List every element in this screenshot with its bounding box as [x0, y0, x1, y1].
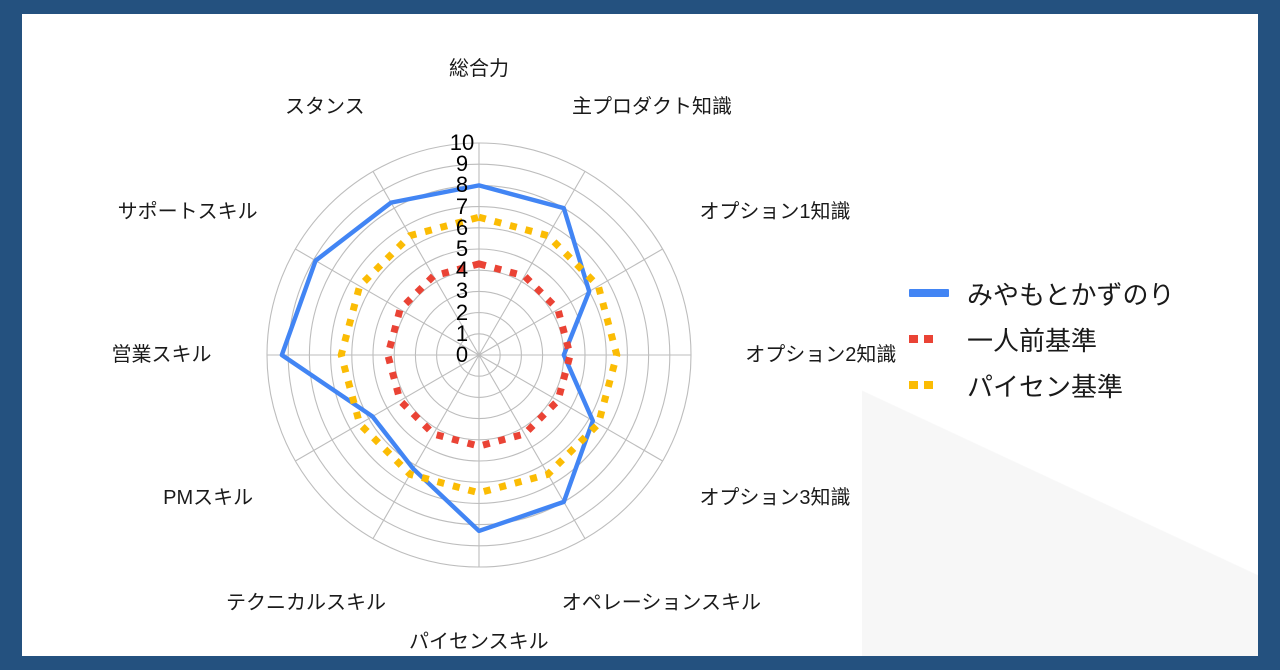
category-label: 総合力 — [449, 58, 509, 80]
axis-tick-label: 0 — [456, 344, 468, 366]
category-label: オプション3知識 — [699, 487, 850, 509]
category-label: スタンス — [285, 96, 365, 118]
axis-tick-label: 6 — [456, 217, 468, 239]
legend-label: パイセン基準 — [967, 367, 1123, 404]
axis-tick-label: 5 — [456, 238, 468, 260]
chart-legend: みやもとかずのり 一人前基準 パイセン基準 — [908, 270, 1218, 408]
axis-spoke — [373, 355, 479, 539]
category-label: パイセンスキル — [409, 631, 549, 653]
category-label: テクニカルスキル — [226, 592, 386, 614]
category-label: サポートスキル — [118, 201, 258, 223]
category-label: オペレーションスキル — [562, 592, 761, 614]
legend-label: みやもとかずのり — [967, 275, 1174, 312]
axis-tick-label: 3 — [456, 280, 468, 302]
legend-item[interactable]: 一人前基準 — [908, 316, 1218, 362]
category-label: 主プロダクト知識 — [572, 96, 732, 118]
legend-item[interactable]: みやもとかずのり — [908, 270, 1218, 316]
category-label: オプション2知識 — [745, 344, 896, 366]
axis-tick-label: 10 — [450, 132, 474, 154]
legend-swatch-dotted-icon — [908, 370, 950, 400]
axis-tick-label: 4 — [456, 259, 468, 281]
category-label: オプション1知識 — [699, 201, 850, 223]
legend-label: 一人前基準 — [967, 321, 1097, 358]
slide-canvas: 012345678910 総合力主プロダクト知識オプション1知識オプション2知識… — [22, 14, 1258, 656]
legend-swatch-dotted-icon — [908, 324, 950, 354]
axis-spoke — [295, 249, 479, 355]
axis-tick-label: 2 — [456, 302, 468, 324]
axis-tick-label: 7 — [456, 196, 468, 218]
slide-frame: 012345678910 総合力主プロダクト知識オプション1知識オプション2知識… — [0, 0, 1280, 670]
legend-swatch-solid-icon — [908, 278, 950, 308]
category-label: 営業スキル — [112, 344, 212, 366]
axis-spoke — [295, 355, 479, 461]
axis-tick-label: 8 — [456, 174, 468, 196]
category-label: PMスキル — [163, 487, 253, 509]
axis-tick-label: 1 — [456, 323, 468, 345]
legend-item[interactable]: パイセン基準 — [908, 362, 1218, 408]
axis-tick-label: 9 — [456, 153, 468, 175]
radar-axis-spokes — [267, 143, 691, 567]
